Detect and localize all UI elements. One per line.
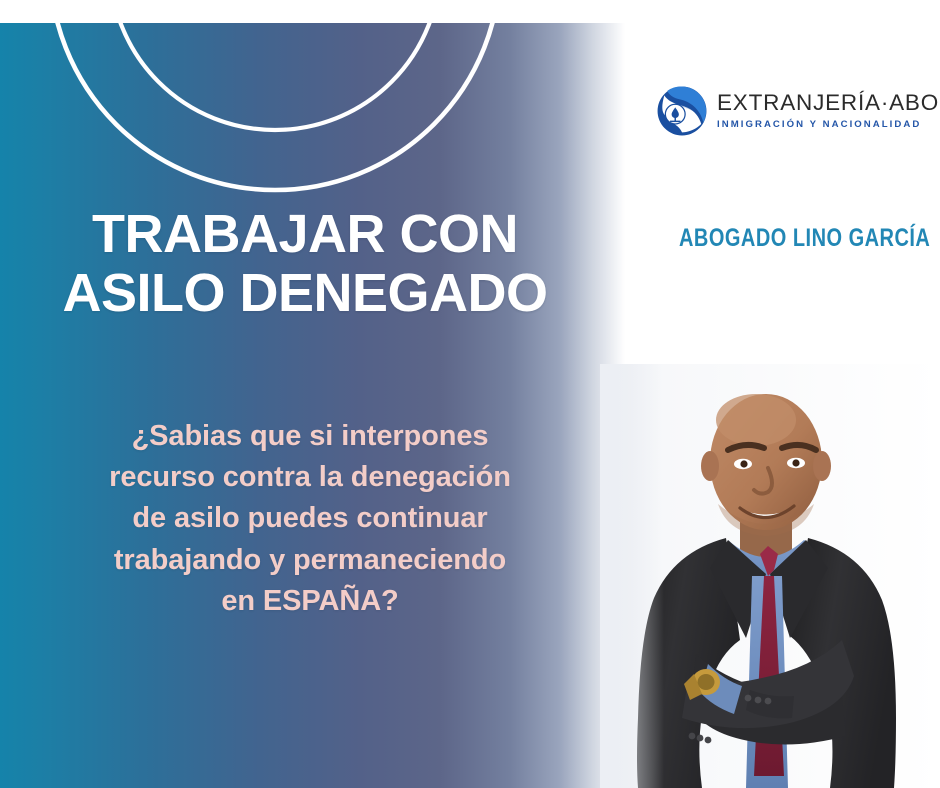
poster-canvas: TRABAJAR CON ASILO DENEGADO ¿Sabias que …	[0, 0, 940, 788]
brand-name: EXTRANJERÍA·ABOGADO	[717, 91, 940, 115]
portrait-photo	[600, 364, 940, 788]
brand-wordmark: EXTRANJERÍA·ABOGADO INMIGRACIÓN Y NACION…	[717, 91, 940, 131]
brand-logo-lockup: EXTRANJERÍA·ABOGADO INMIGRACIÓN Y NACION…	[656, 85, 940, 137]
brand-tagline: INMIGRACIÓN Y NACIONALIDAD	[717, 118, 940, 131]
question-line-4: trabajando y permaneciendo	[30, 540, 590, 581]
question-text: ¿Sabias que si interpones recurso contra…	[30, 416, 590, 622]
question-line-1: ¿Sabias que si interpones	[30, 416, 590, 457]
headline-line-1: TRABAJAR CON	[0, 205, 610, 264]
dove-scales-emblem-icon	[656, 85, 708, 137]
question-line-5: en ESPAÑA?	[30, 581, 590, 622]
question-line-3: de asilo puedes continuar	[30, 498, 590, 539]
lawyer-name: ABOGADO LINO GARCÍA	[679, 224, 930, 253]
headline-line-2: ASILO DENEGADO	[0, 264, 610, 323]
headline: TRABAJAR CON ASILO DENEGADO	[0, 205, 610, 323]
question-line-2: recurso contra la denegación	[30, 457, 590, 498]
top-white-bar	[0, 0, 940, 23]
